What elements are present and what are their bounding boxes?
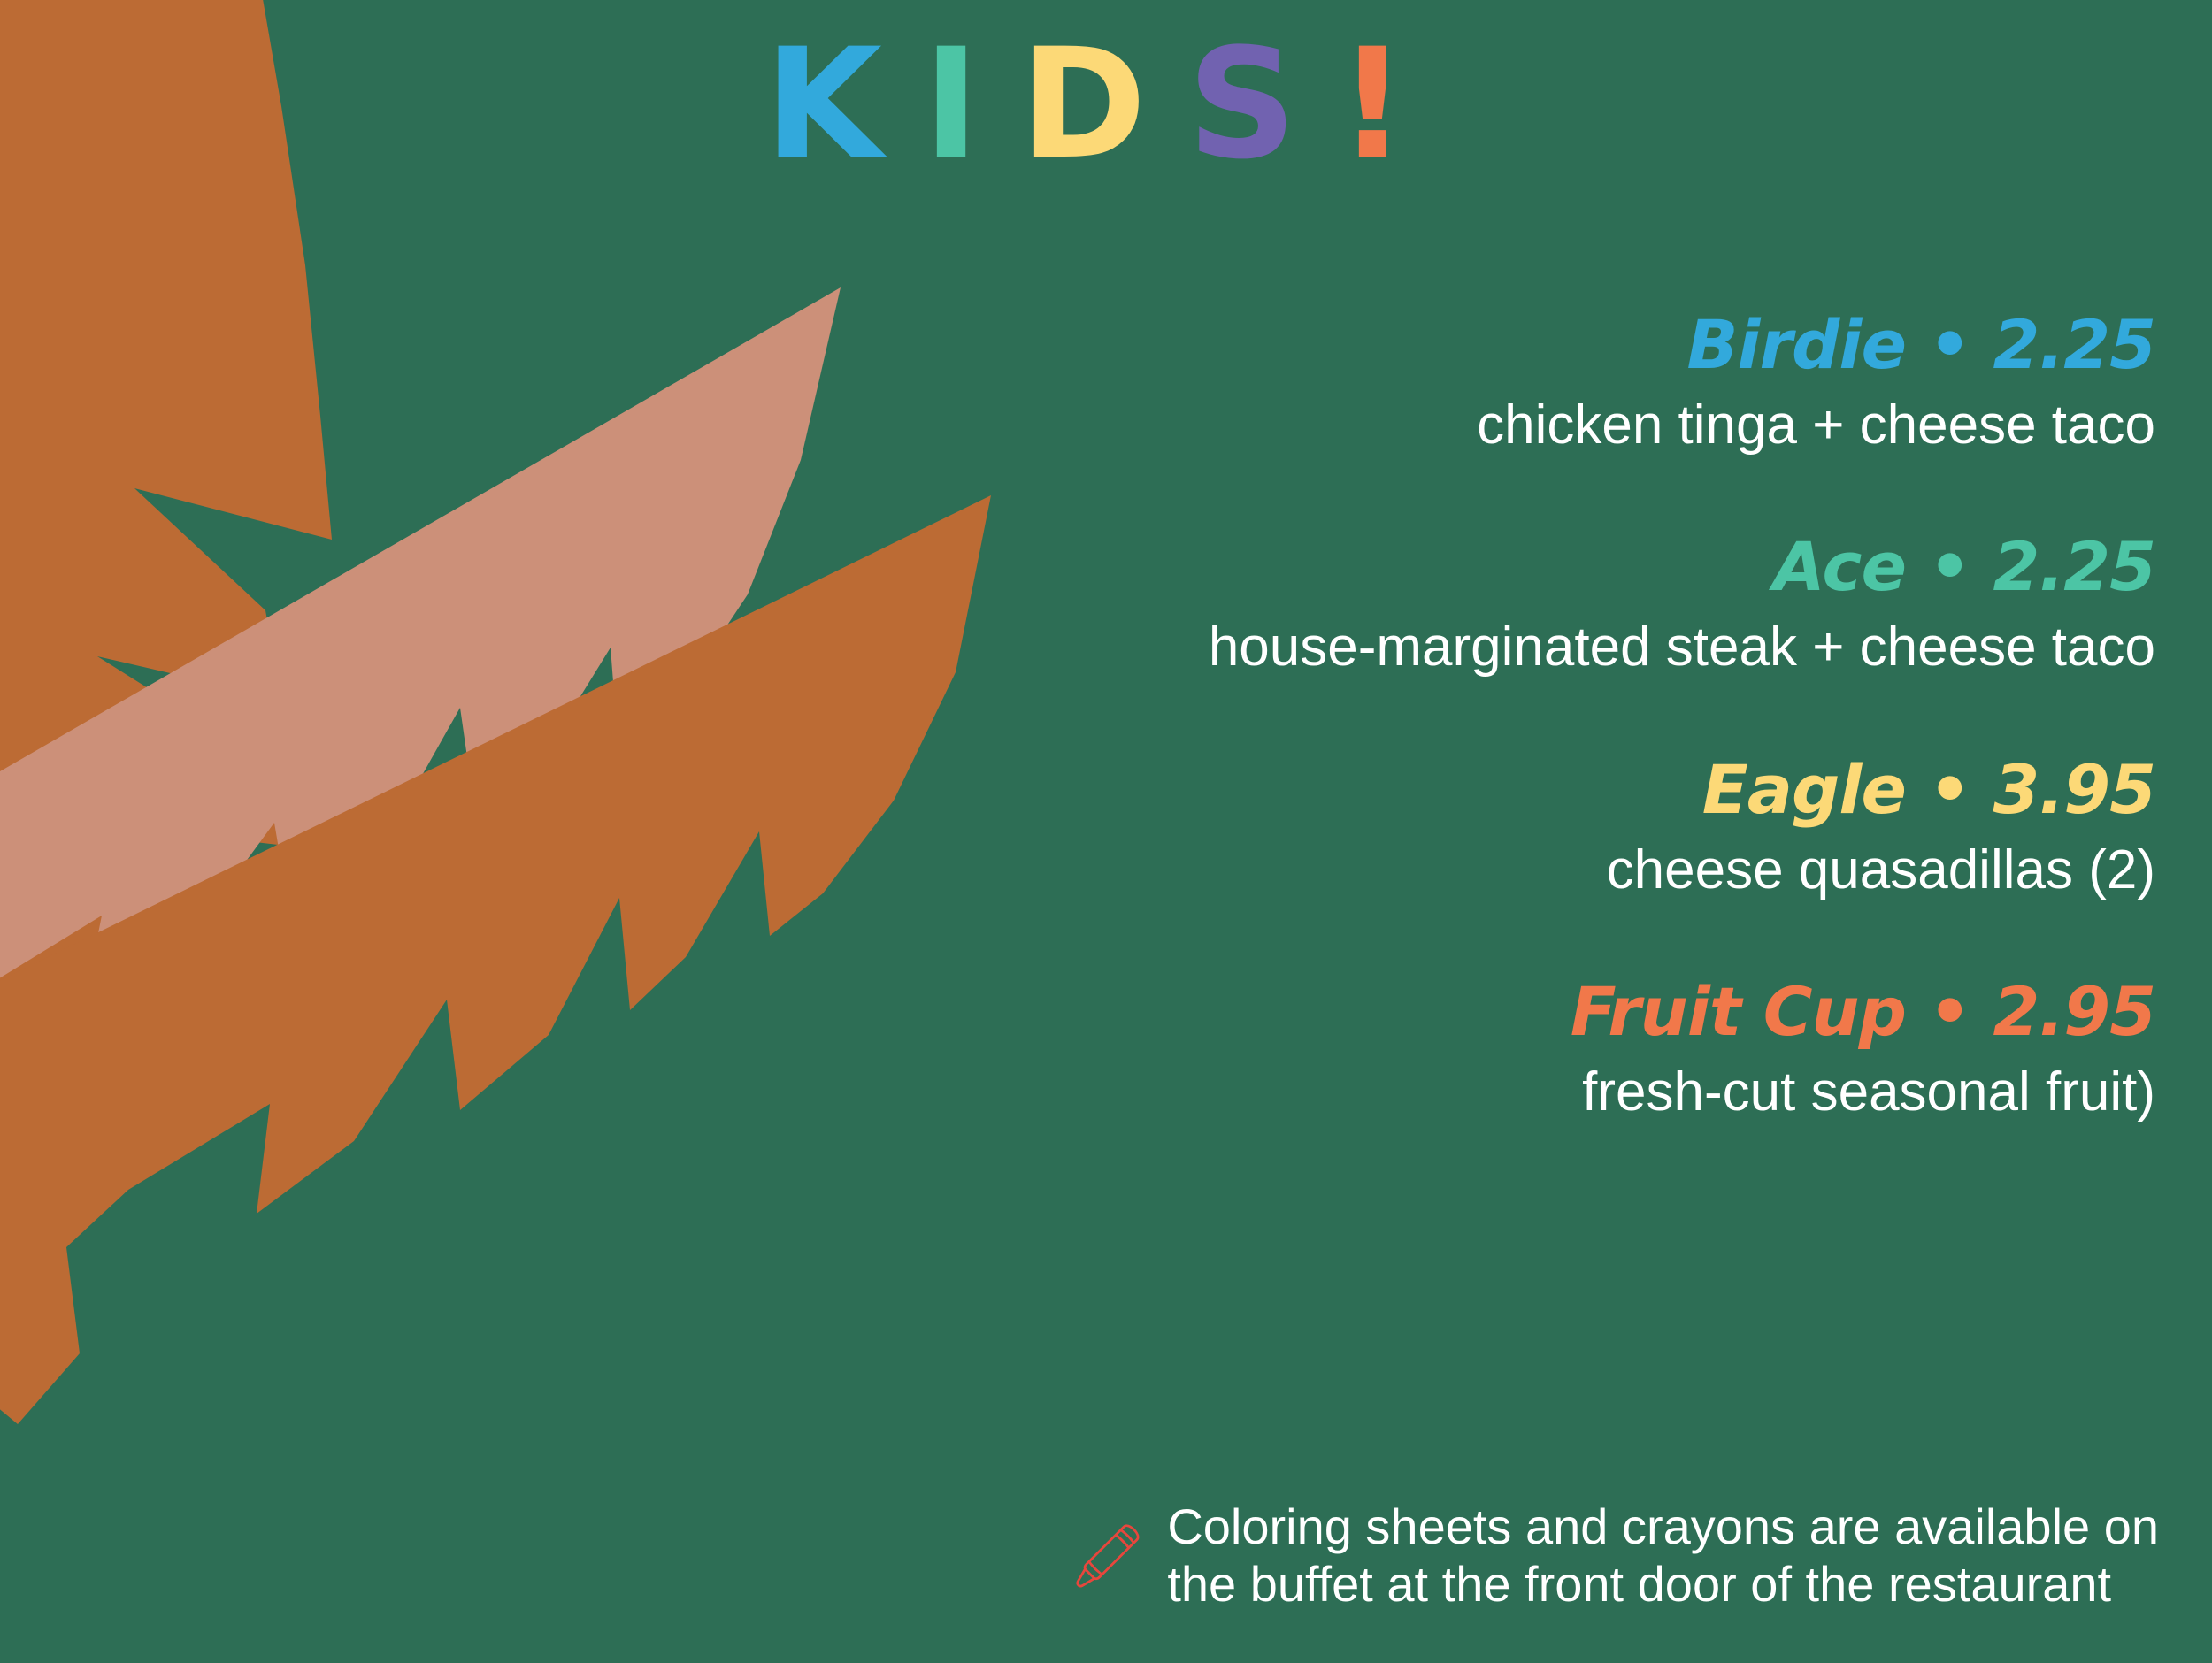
menu-item-eagle: Eagle • 3.95 cheese quasadillas (2) (846, 756, 2155, 900)
menu-item-description: fresh-cut seasonal fruit) (846, 1061, 2155, 1123)
title-letter-k: K (764, 25, 923, 185)
menu-item-heading: Ace • 2.25 (846, 533, 2155, 601)
menu-item-ace: Ace • 2.25 house-marginated steak + chee… (846, 533, 2155, 678)
title-letter-s: S (1187, 25, 1338, 185)
menu-item-heading: Fruit Cup • 2.95 (846, 978, 2155, 1046)
leaf-salmon-middle-icon (0, 287, 841, 1026)
title-letter-i: I (923, 25, 1020, 185)
menu-item-birdie: Birdie • 2.25 chicken tinga + cheese tac… (846, 311, 2155, 456)
crayon-icon: 🖍 (1068, 1518, 1144, 1594)
menu-item-description: chicken tinga + cheese taco (846, 395, 2155, 456)
footer-note-text: Coloring sheets and crayons are availabl… (1167, 1498, 2159, 1613)
menu-item-heading: Eagle • 3.95 (846, 756, 2155, 824)
title-letter-exclamation: ! (1338, 25, 1448, 185)
page-title: KIDS! (0, 25, 2212, 185)
menu-list: Birdie • 2.25 chicken tinga + cheese tac… (846, 311, 2155, 1123)
menu-item-description: house-marginated steak + cheese taco (846, 617, 2155, 678)
menu-item-heading: Birdie • 2.25 (846, 311, 2155, 379)
footer-note: 🖍 Coloring sheets and crayons are availa… (1068, 1498, 2159, 1613)
menu-item-description: cheese quasadillas (2) (846, 839, 2155, 900)
leaf-orange-lower-icon (0, 495, 991, 1424)
title-letter-d: D (1020, 25, 1187, 185)
kids-menu-poster: KIDS! Birdie • 2.25 chicken tinga + chee… (0, 0, 2212, 1663)
menu-item-fruit-cup: Fruit Cup • 2.95 fresh-cut seasonal frui… (846, 978, 2155, 1123)
